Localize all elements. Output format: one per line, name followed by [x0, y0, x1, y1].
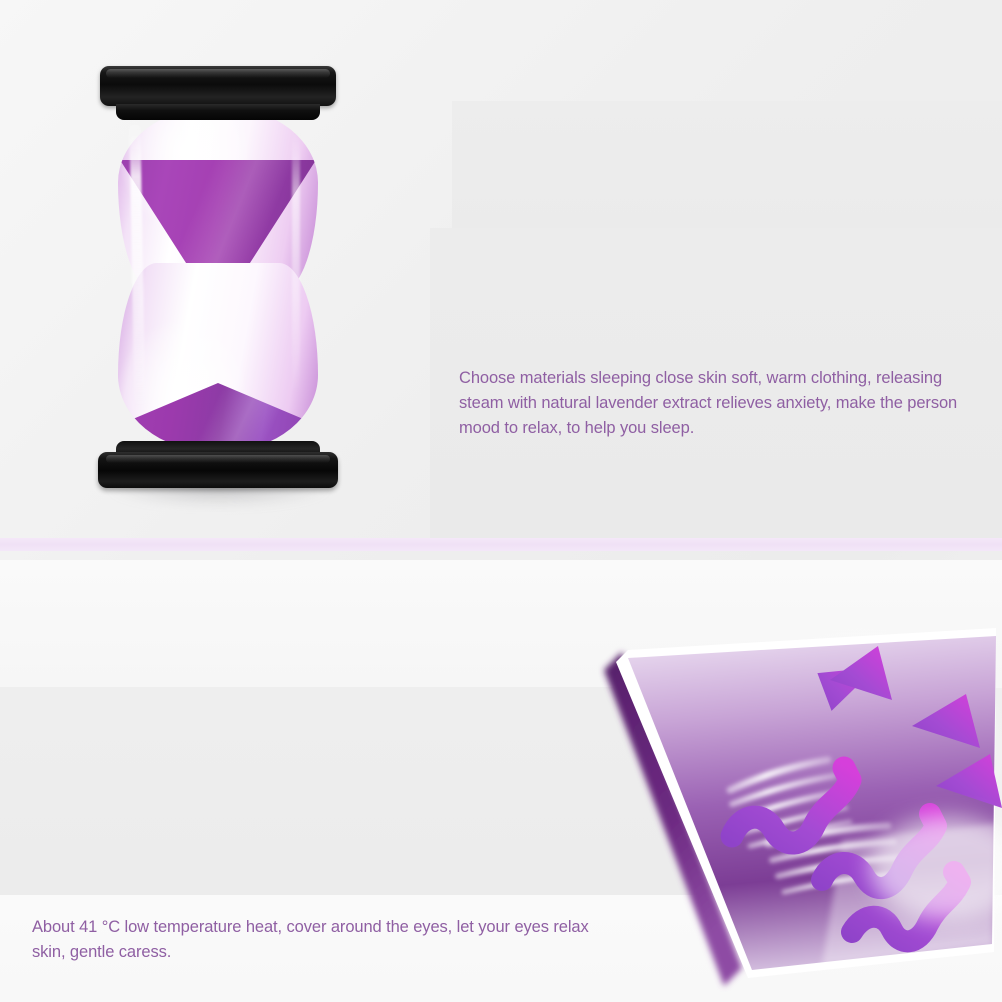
hourglass-bottom-cap	[98, 452, 338, 488]
product-feature-canvas: Choose materials sleeping close skin sof…	[0, 0, 1002, 1002]
hourglass-top-cap-lip	[116, 104, 320, 120]
steam-fabric-icon	[592, 600, 1002, 1002]
hourglass-lower-sand-sheen	[118, 383, 318, 449]
background-panel-upper-right	[452, 101, 1002, 229]
hourglass-right-highlight	[292, 130, 300, 410]
section-divider	[0, 538, 1002, 551]
bottom-description-text: About 41 °C low temperature heat, cover …	[32, 915, 612, 965]
hourglass-lower-bulb	[118, 263, 318, 451]
hourglass-icon	[96, 60, 340, 500]
top-description-text: Choose materials sleeping close skin sof…	[459, 366, 989, 441]
hourglass-top-cap	[100, 66, 336, 106]
